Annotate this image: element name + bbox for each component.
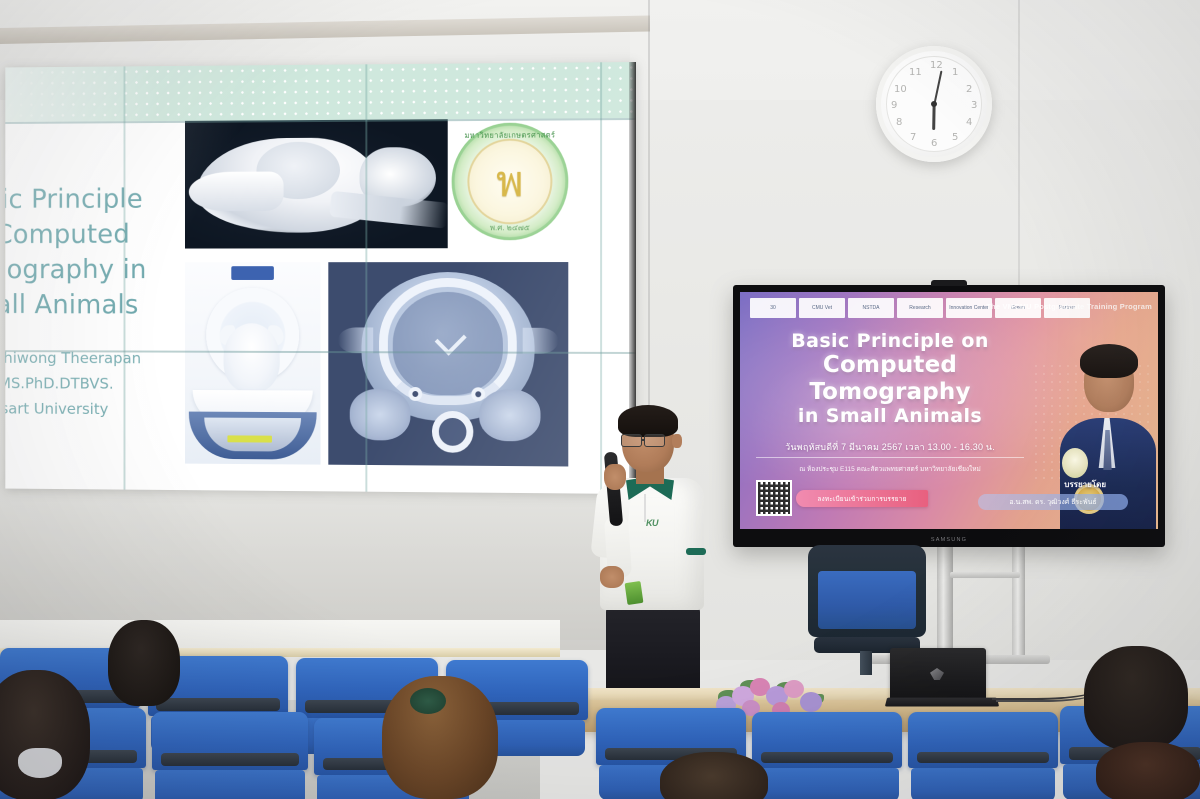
slide-title: Basic Principle on Computed Tomography i… — [5, 182, 192, 323]
audience-head — [0, 670, 90, 799]
screen-mullion-1 — [124, 66, 126, 489]
sponsor-logo-5: Innovation Center — [946, 298, 992, 318]
sponsor-logo-2: CMU Vet — [799, 298, 845, 318]
flower-bloom — [800, 692, 822, 712]
presenter-ear — [672, 434, 682, 448]
tv-brand-logo: SAMSUNG — [733, 537, 1165, 543]
speaker-label: บรรยายโดย — [1064, 478, 1106, 491]
ct-foramen-left — [408, 387, 422, 401]
clock-numeral-6: 6 — [931, 138, 937, 149]
face-mask — [18, 748, 62, 778]
seat-cushion — [755, 768, 899, 799]
clock-center-pin — [931, 101, 937, 107]
ct-ear-left — [338, 327, 373, 353]
seat-bar — [917, 752, 1049, 764]
poster-title-line-3: in Small Animals — [756, 405, 1024, 427]
speaker-name: อ.น.สพ. ดร. วุฒิวงศ์ ธีระพันธ์ — [978, 494, 1128, 510]
office-chair-post — [860, 651, 872, 675]
sponsor-logo-1: 30 — [750, 298, 796, 318]
skull-snout — [189, 172, 284, 212]
presenter-lanyard — [625, 581, 644, 605]
audience-head — [1084, 646, 1188, 750]
tv-stand-pole — [937, 547, 953, 659]
tv-screen[interactable]: 30 CMU Vet NSTDA Research Innovation Cen… — [740, 292, 1158, 529]
slide-speaker-name: Chanthiwong Theerapan — [5, 345, 198, 371]
slide-speaker-degrees: DVM.MS.PhD.DTBVS. — [5, 370, 198, 396]
program-tag: The VMCMU Postgraduate Training Program — [986, 302, 1152, 311]
clock-numeral-12: 12 — [930, 60, 943, 71]
seal-arc-bottom: พ.ศ. ๒๔๗๕ — [452, 221, 569, 234]
skull-3d-reconstruction-image — [185, 119, 448, 248]
poster-date: วันพฤหัสบดีที่ 7 มีนาคม 2567 เวลา 13.00 … — [756, 440, 1024, 458]
ct-warning-label — [227, 435, 272, 442]
eyeglasses-lens-left — [621, 434, 642, 447]
slide-title-line-3: Tomography in — [5, 252, 192, 287]
slide-affiliation: Kasetsart University — [5, 396, 198, 423]
clock-numeral-11: 11 — [909, 67, 922, 78]
clock-numeral-5: 5 — [952, 132, 958, 143]
speaker-hair — [1080, 344, 1138, 378]
poster-title-line-1: Basic Principle on — [756, 330, 1024, 352]
register-button[interactable]: ลงทะเบียนเข้าร่วมการบรรยาย — [796, 490, 928, 507]
audience-head — [1096, 742, 1200, 799]
samsung-display[interactable]: 30 CMU Vet NSTDA Research Innovation Cen… — [733, 285, 1165, 547]
dog-patient — [224, 323, 280, 392]
sponsor-logo-3: NSTDA — [848, 298, 894, 318]
slide-title-line-1: Basic Principle — [5, 182, 192, 218]
speaker-boutonniere — [1062, 448, 1088, 478]
clock-numeral-8: 8 — [896, 117, 902, 128]
ct-trachea — [432, 411, 473, 453]
seat-bar — [761, 752, 893, 764]
tv-stand-arm — [950, 572, 1020, 578]
kasetsart-university-seal: มหาวิทยาลัยเกษตรศาสตร์ พ พ.ศ. ๒๔๗๕ — [452, 122, 569, 240]
wall-clock: 12 1 2 3 4 5 6 7 8 9 10 11 — [876, 46, 992, 162]
sponsor-logo-4: Research — [897, 298, 943, 318]
presenter-trousers — [606, 604, 700, 700]
clock-numeral-9: 9 — [891, 100, 897, 111]
office-chair-backpad — [818, 571, 916, 629]
presenter-hand-lower — [600, 566, 624, 588]
poster-title: Basic Principle on Computed Tomography i… — [756, 330, 1024, 427]
ct-mandible-right — [479, 389, 540, 441]
seal-glyph: พ — [496, 149, 523, 215]
seat-bar — [156, 698, 279, 710]
seat — [752, 712, 902, 799]
axial-ct-slice-image — [328, 262, 568, 466]
lower-back-wall — [0, 620, 560, 650]
ct-gantry-display — [231, 266, 274, 280]
slide-subtitle: Chanthiwong Theerapan DVM.MS.PhD.DTBVS. … — [5, 345, 198, 422]
cable-2 — [996, 686, 1092, 702]
clock-numeral-7: 7 — [910, 132, 916, 143]
clock-numeral-10: 10 — [894, 84, 907, 95]
audience-head — [660, 752, 768, 799]
seat-cushion — [155, 770, 305, 799]
slide-title-line-2: on Computed — [5, 217, 192, 253]
clock-hour-hand — [933, 106, 936, 130]
clock-numeral-3: 3 — [971, 100, 977, 111]
poster-venue: ณ ห้องประชุม E115 คณะสัตวแพทยศาสตร์ มหาว… — [756, 464, 1024, 474]
presenter-shirt-logo: KU — [646, 518, 658, 528]
presenter-laptop[interactable] — [890, 648, 1000, 710]
slide-band-fade — [5, 66, 158, 122]
presenter-hair — [618, 405, 678, 437]
clock-numeral-4: 4 — [966, 117, 972, 128]
laptop-base — [885, 698, 999, 707]
eyeglasses-bridge — [642, 439, 645, 441]
clock-numeral-1: 1 — [952, 67, 958, 78]
presenter-cuff-right — [686, 548, 706, 555]
seat-bar — [161, 753, 298, 765]
ct-scanner-photo — [185, 262, 321, 464]
ct-ear-right — [523, 328, 559, 354]
ct-foramen-right — [471, 387, 485, 401]
qr-code-pattern — [758, 482, 790, 514]
presenter-hand-holding-mic — [604, 464, 626, 490]
ct-mandible-left — [350, 389, 411, 441]
seat — [152, 712, 308, 799]
tv-camera-bar — [931, 280, 967, 286]
clock-numeral-2: 2 — [966, 84, 972, 95]
hair-tie — [410, 688, 446, 714]
seat-cushion — [911, 768, 1055, 799]
slide-title-line-4: Small Animals — [5, 288, 192, 323]
screen-mullion-2 — [365, 64, 367, 491]
poster-title-line-2: Computed Tomography — [756, 352, 1024, 405]
seal-arc-top: มหาวิทยาลัยเกษตรศาสตร์ — [452, 129, 569, 142]
eyeglasses-lens-right — [644, 434, 665, 447]
seat — [908, 712, 1058, 799]
audience-head — [108, 620, 180, 706]
qr-code-icon[interactable] — [756, 480, 792, 516]
lecture-hall-photograph: Basic Principle on Computed Tomography i… — [0, 0, 1200, 799]
projection-screen: Basic Principle on Computed Tomography i… — [5, 62, 636, 494]
presenter: KU — [586, 408, 720, 700]
